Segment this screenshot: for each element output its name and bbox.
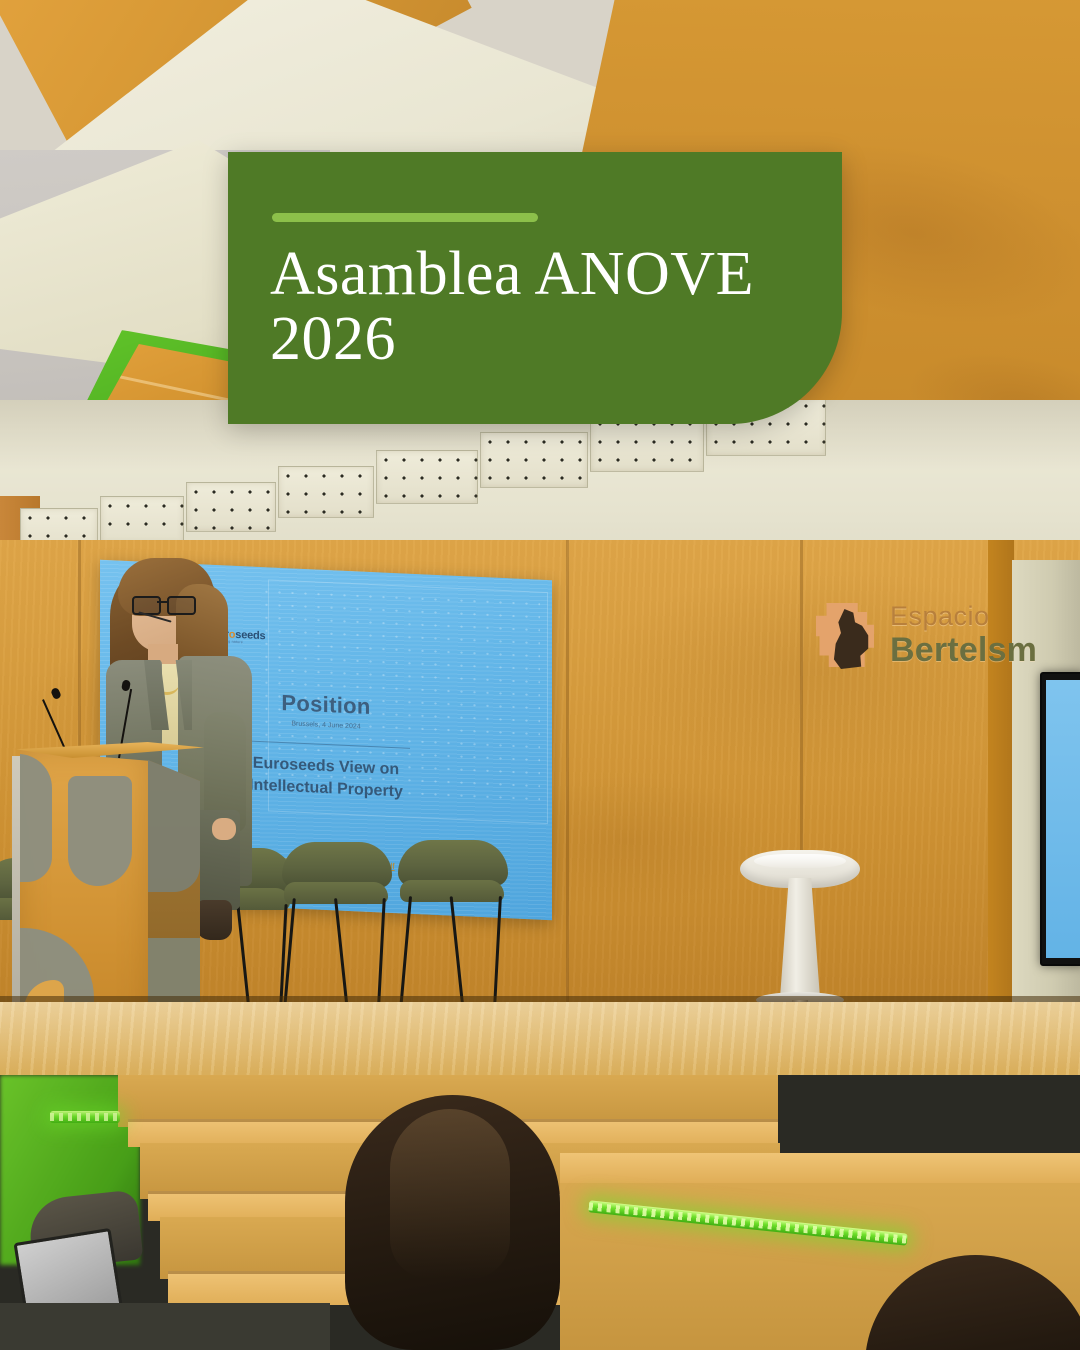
speaker-glasses — [132, 596, 192, 611]
title-accent-bar — [272, 213, 538, 222]
step-led-light — [50, 1111, 120, 1123]
title-line-1: Asamblea ANOVE — [270, 240, 754, 308]
podium-inlay — [68, 776, 132, 886]
vent-panel — [186, 482, 276, 532]
venue-sign-line1: Espacio — [890, 601, 990, 632]
glasses-lens-left — [132, 596, 161, 615]
glasses-lens-right — [167, 596, 196, 615]
title-card-overlay: Asamblea ANOVE 2026 — [228, 152, 842, 424]
vent-panel — [480, 432, 588, 488]
venue-sign-line2: Bertelsm — [890, 631, 1037, 670]
stage-floor-reflection — [0, 1002, 1080, 1072]
stage-front-lip — [560, 1153, 1080, 1183]
glasses-bridge — [157, 601, 167, 603]
vent-panel — [376, 450, 478, 504]
title-text: Asamblea ANOVE 2026 — [270, 242, 810, 372]
podium-inlay — [148, 760, 200, 892]
bertelsmann-logo-icon — [810, 597, 880, 675]
venue-sign: Espacio Bertelsm — [810, 595, 1045, 680]
side-monitor — [1040, 672, 1080, 966]
vent-panel — [278, 466, 374, 518]
hair-highlight — [390, 1109, 510, 1279]
podium-inlay — [18, 754, 52, 882]
speaker-hand — [212, 818, 236, 840]
photo-canvas: Euroseeds connecting nature Euroseeds co… — [0, 0, 1080, 1350]
speaker-boot — [196, 900, 232, 940]
slide-subtitle-line1: Euroseeds View on — [253, 755, 399, 779]
side-monitor-screen — [1046, 680, 1080, 958]
wall-seam — [566, 540, 569, 1010]
vent-panel — [100, 496, 184, 544]
title-line-2: 2026 — [270, 307, 810, 372]
floor-carpet — [0, 1303, 330, 1350]
stool-column — [780, 878, 820, 998]
foreground-steps-and-audience — [0, 1075, 1080, 1350]
slide-subtitle-line2: Intellectual Property — [249, 776, 403, 800]
